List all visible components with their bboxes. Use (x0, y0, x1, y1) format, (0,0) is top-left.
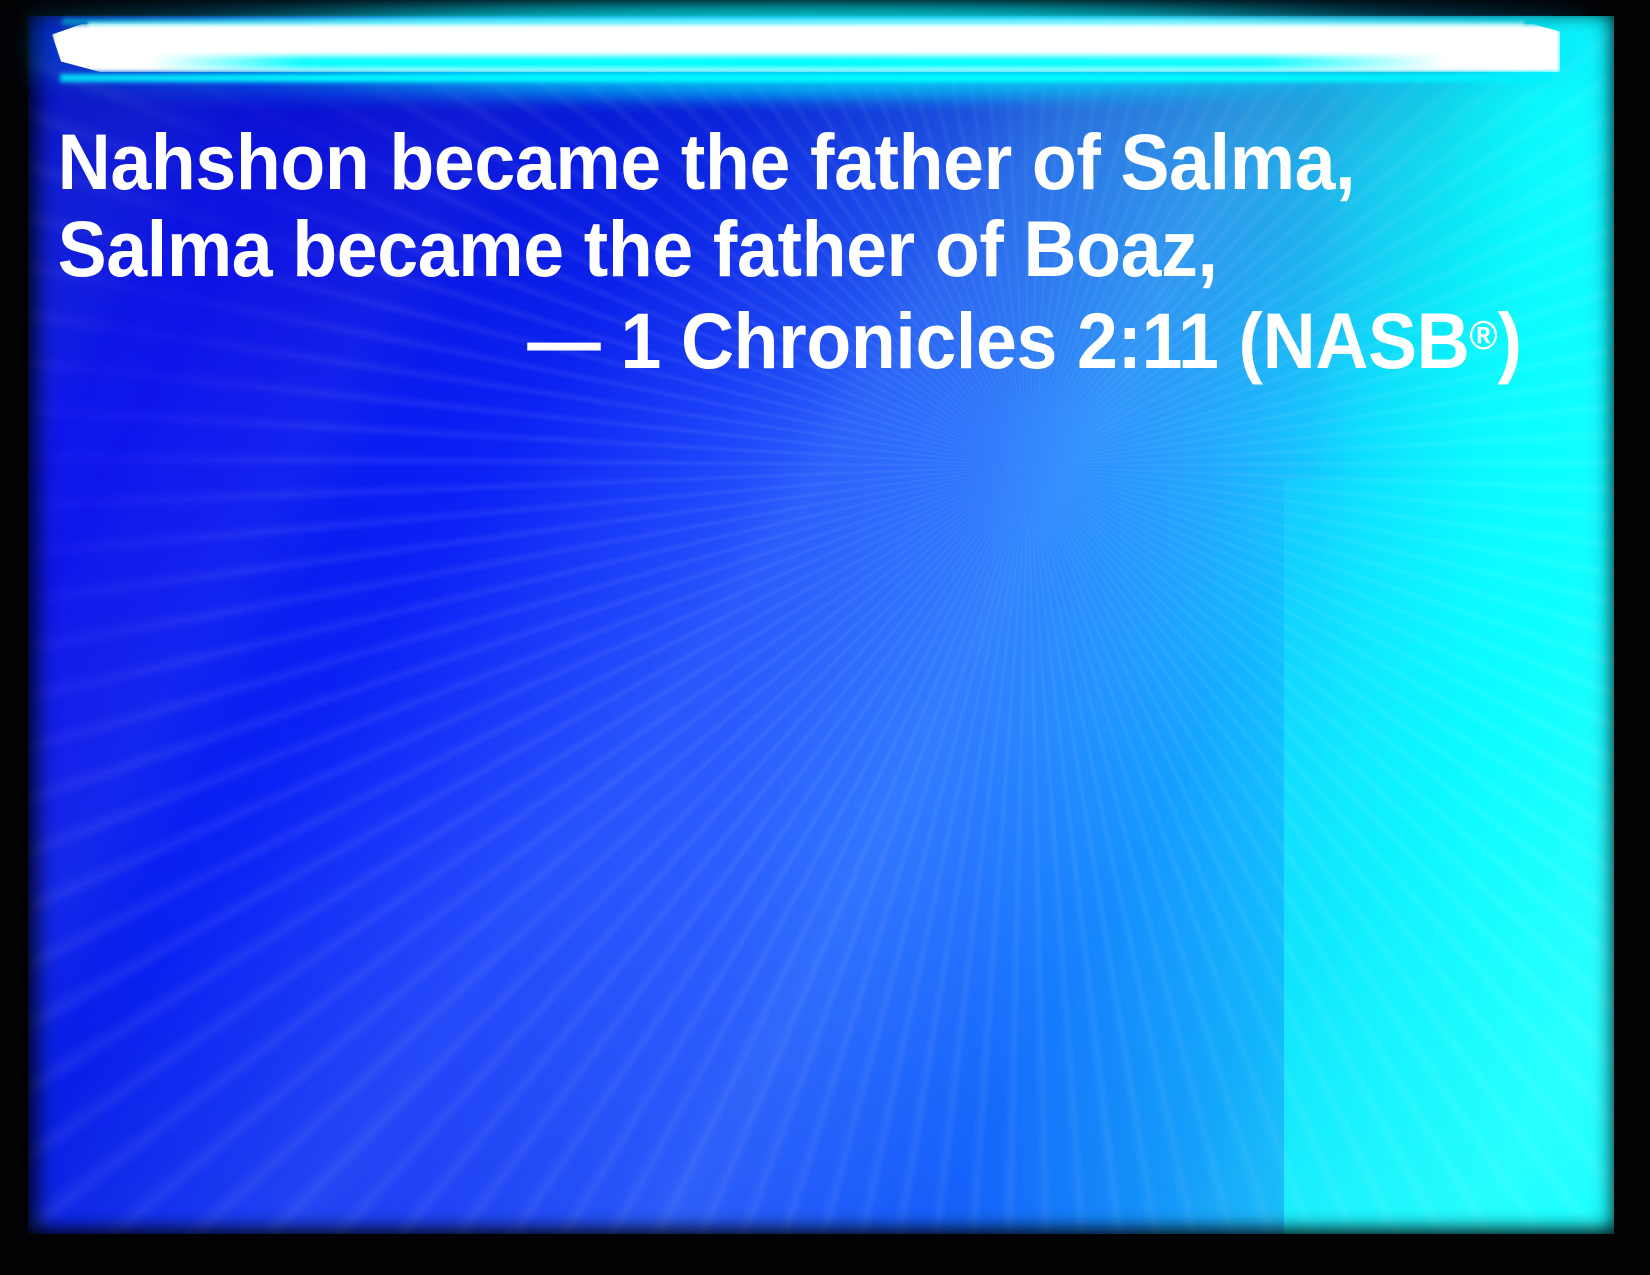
registered-trademark-icon: ® (1469, 312, 1497, 358)
banner-core-inner (88, 22, 1524, 56)
background-cyan-edge-lower (1284, 479, 1614, 1234)
citation-reference: — 1 Chronicles 2:11 (NASB (527, 296, 1469, 385)
verse-line-2: Salma became the father of Boaz, (58, 205, 1449, 292)
verse-line-1: Nahshon became the father of Salma, (58, 118, 1449, 205)
citation-closing-paren: ) (1497, 296, 1521, 385)
scripture-slide: Nahshon became the father of Salma, Salm… (0, 0, 1650, 1275)
banner-cyan-streak (148, 56, 1446, 69)
verse-text-block: Nahshon became the father of Salma, Salm… (0, 118, 1475, 384)
banner-top-edge (62, 18, 1550, 25)
verse-citation: — 1 Chronicles 2:11 (NASB®) (58, 292, 1449, 384)
banner-bottom-edge (60, 74, 1550, 82)
top-highlight-banner (52, 18, 1560, 82)
